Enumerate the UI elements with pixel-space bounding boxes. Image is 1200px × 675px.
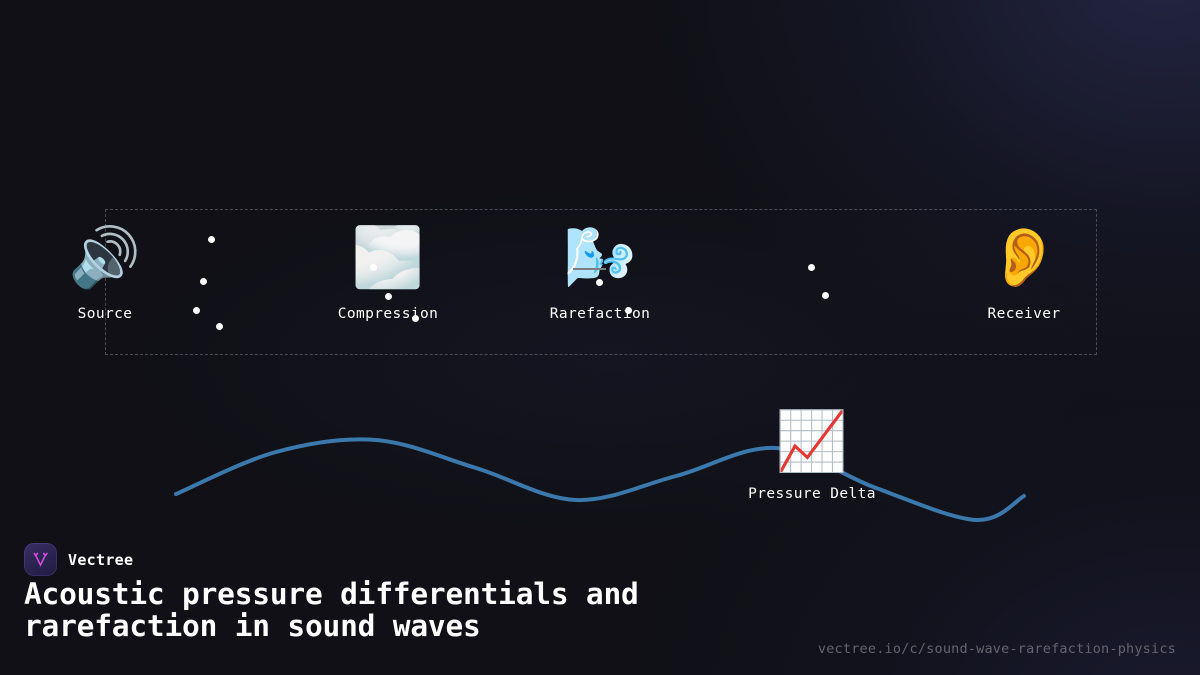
ear-icon: 👂 [934, 228, 1114, 298]
particle-dot [385, 293, 392, 300]
diagram-node-label: Receiver [934, 306, 1114, 322]
particle-dot [808, 264, 815, 271]
particle-dot [370, 264, 377, 271]
diagram-node-compression[interactable]: 🌫️ Compression [298, 228, 478, 322]
pressure-wave-chart [0, 380, 1200, 560]
brand-name: Vectree [68, 551, 133, 569]
connector-line [573, 268, 606, 270]
particle-dot [822, 292, 829, 299]
loud-speaker-icon: 🔊 [15, 228, 195, 298]
diagram-node-receiver[interactable]: 👂 Receiver [934, 228, 1114, 322]
slide-canvas: 🔊 Source 🌫️ Compression 🌬️ Rarefaction 👂… [0, 0, 1200, 675]
page-title: Acoustic pressure differentials and rare… [24, 578, 824, 642]
pressure-delta-marker[interactable]: 📈 Pressure Delta [702, 412, 922, 502]
chart-increasing-icon: 📈 [702, 412, 922, 482]
particle-dot [200, 278, 207, 285]
particle-dot [208, 236, 215, 243]
wind-face-icon: 🌬️ [510, 228, 690, 298]
particle-dot [193, 307, 200, 314]
diagram-node-label: Compression [298, 306, 478, 322]
source-url: vectree.io/c/sound-wave-rarefaction-phys… [818, 641, 1176, 657]
vectree-logo-icon [24, 543, 57, 576]
particle-dot [596, 279, 603, 286]
pressure-delta-label: Pressure Delta [702, 486, 922, 502]
particle-dot [216, 323, 223, 330]
diagram-node-rarefaction[interactable]: 🌬️ Rarefaction [510, 228, 690, 322]
diagram-node-label: Source [15, 306, 195, 322]
diagram-node-source[interactable]: 🔊 Source [15, 228, 195, 322]
particle-dot [412, 315, 419, 322]
diagram-node-label: Rarefaction [510, 306, 690, 322]
particle-dot [625, 307, 632, 314]
brand-block[interactable]: Vectree [24, 543, 133, 576]
fog-cloud-icon: 🌫️ [298, 228, 478, 298]
